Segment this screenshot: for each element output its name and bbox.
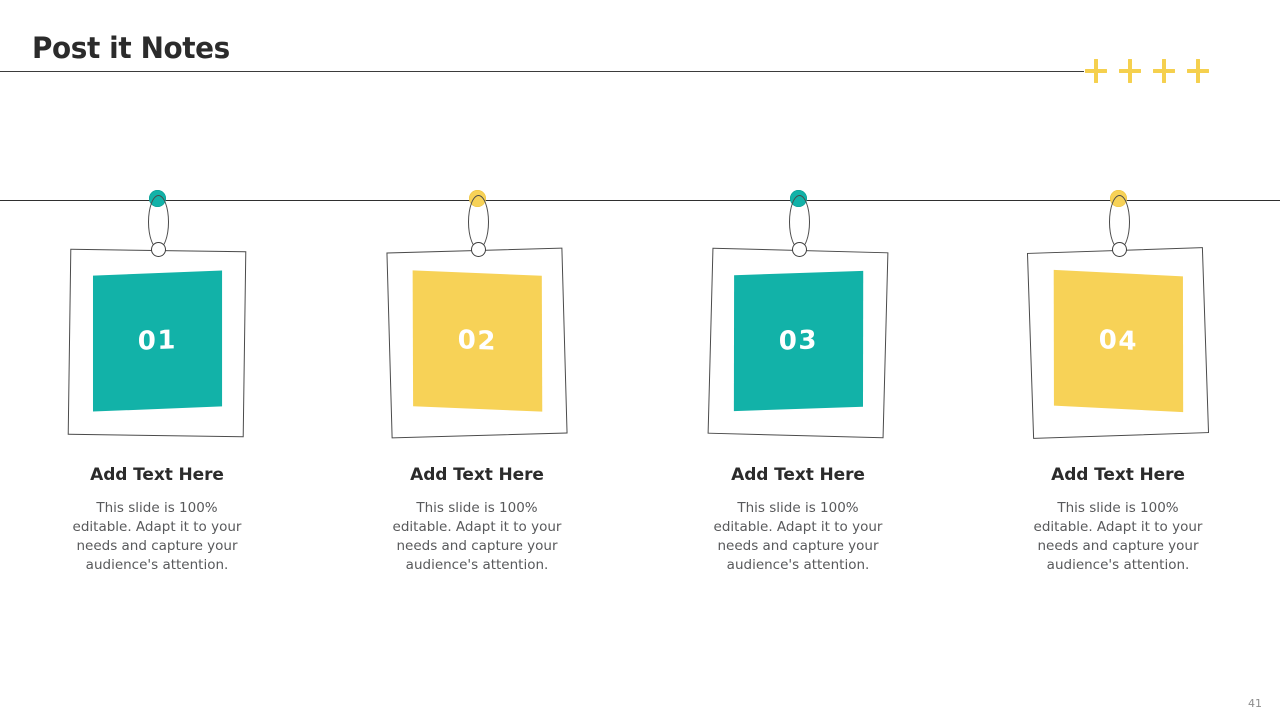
note-body: This slide is 100% editable. Adapt it to… [1029, 499, 1207, 575]
pin-ring-icon [1112, 242, 1127, 257]
note-frame[interactable]: 01 [68, 249, 247, 437]
note-caption: Add Text Here This slide is 100% editabl… [668, 465, 928, 575]
pin-ring-icon [792, 242, 807, 257]
note-caption: Add Text Here This slide is 100% editabl… [347, 465, 607, 575]
note-card-03[interactable]: 03 Add Text Here This slide is 100% edit… [668, 0, 928, 720]
note-number: 03 [778, 326, 817, 357]
page-number: 41 [1248, 697, 1262, 710]
pin-loop-icon [468, 195, 489, 249]
note-frame[interactable]: 03 [708, 248, 889, 439]
pin-ring-icon [471, 242, 486, 257]
note-card-04[interactable]: 04 Add Text Here This slide is 100% edit… [988, 0, 1248, 720]
note-frame[interactable]: 02 [386, 248, 567, 439]
note-caption: Add Text Here This slide is 100% editabl… [988, 465, 1248, 575]
note-card-02[interactable]: 02 Add Text Here This slide is 100% edit… [347, 0, 607, 720]
note-heading: Add Text Here [27, 465, 287, 485]
note-color-block: 04 [1053, 270, 1182, 412]
note-color-block: 03 [733, 271, 862, 411]
note-body: This slide is 100% editable. Adapt it to… [388, 499, 566, 575]
note-color-block: 01 [93, 271, 222, 412]
pin-loop-icon [789, 195, 810, 249]
note-heading: Add Text Here [988, 465, 1248, 485]
note-heading: Add Text Here [347, 465, 607, 485]
note-number: 01 [137, 325, 176, 357]
note-body: This slide is 100% editable. Adapt it to… [68, 499, 246, 575]
note-frame[interactable]: 04 [1027, 247, 1209, 439]
note-card-01[interactable]: 01 Add Text Here This slide is 100% edit… [27, 0, 287, 720]
note-body: This slide is 100% editable. Adapt it to… [709, 499, 887, 575]
pin-loop-icon [148, 195, 169, 249]
pin-loop-icon [1109, 195, 1130, 249]
note-number: 02 [457, 325, 496, 357]
note-caption: Add Text Here This slide is 100% editabl… [27, 465, 287, 575]
pin-ring-icon [151, 242, 166, 257]
note-color-block: 02 [412, 270, 541, 411]
note-number: 04 [1098, 325, 1137, 357]
note-heading: Add Text Here [668, 465, 928, 485]
